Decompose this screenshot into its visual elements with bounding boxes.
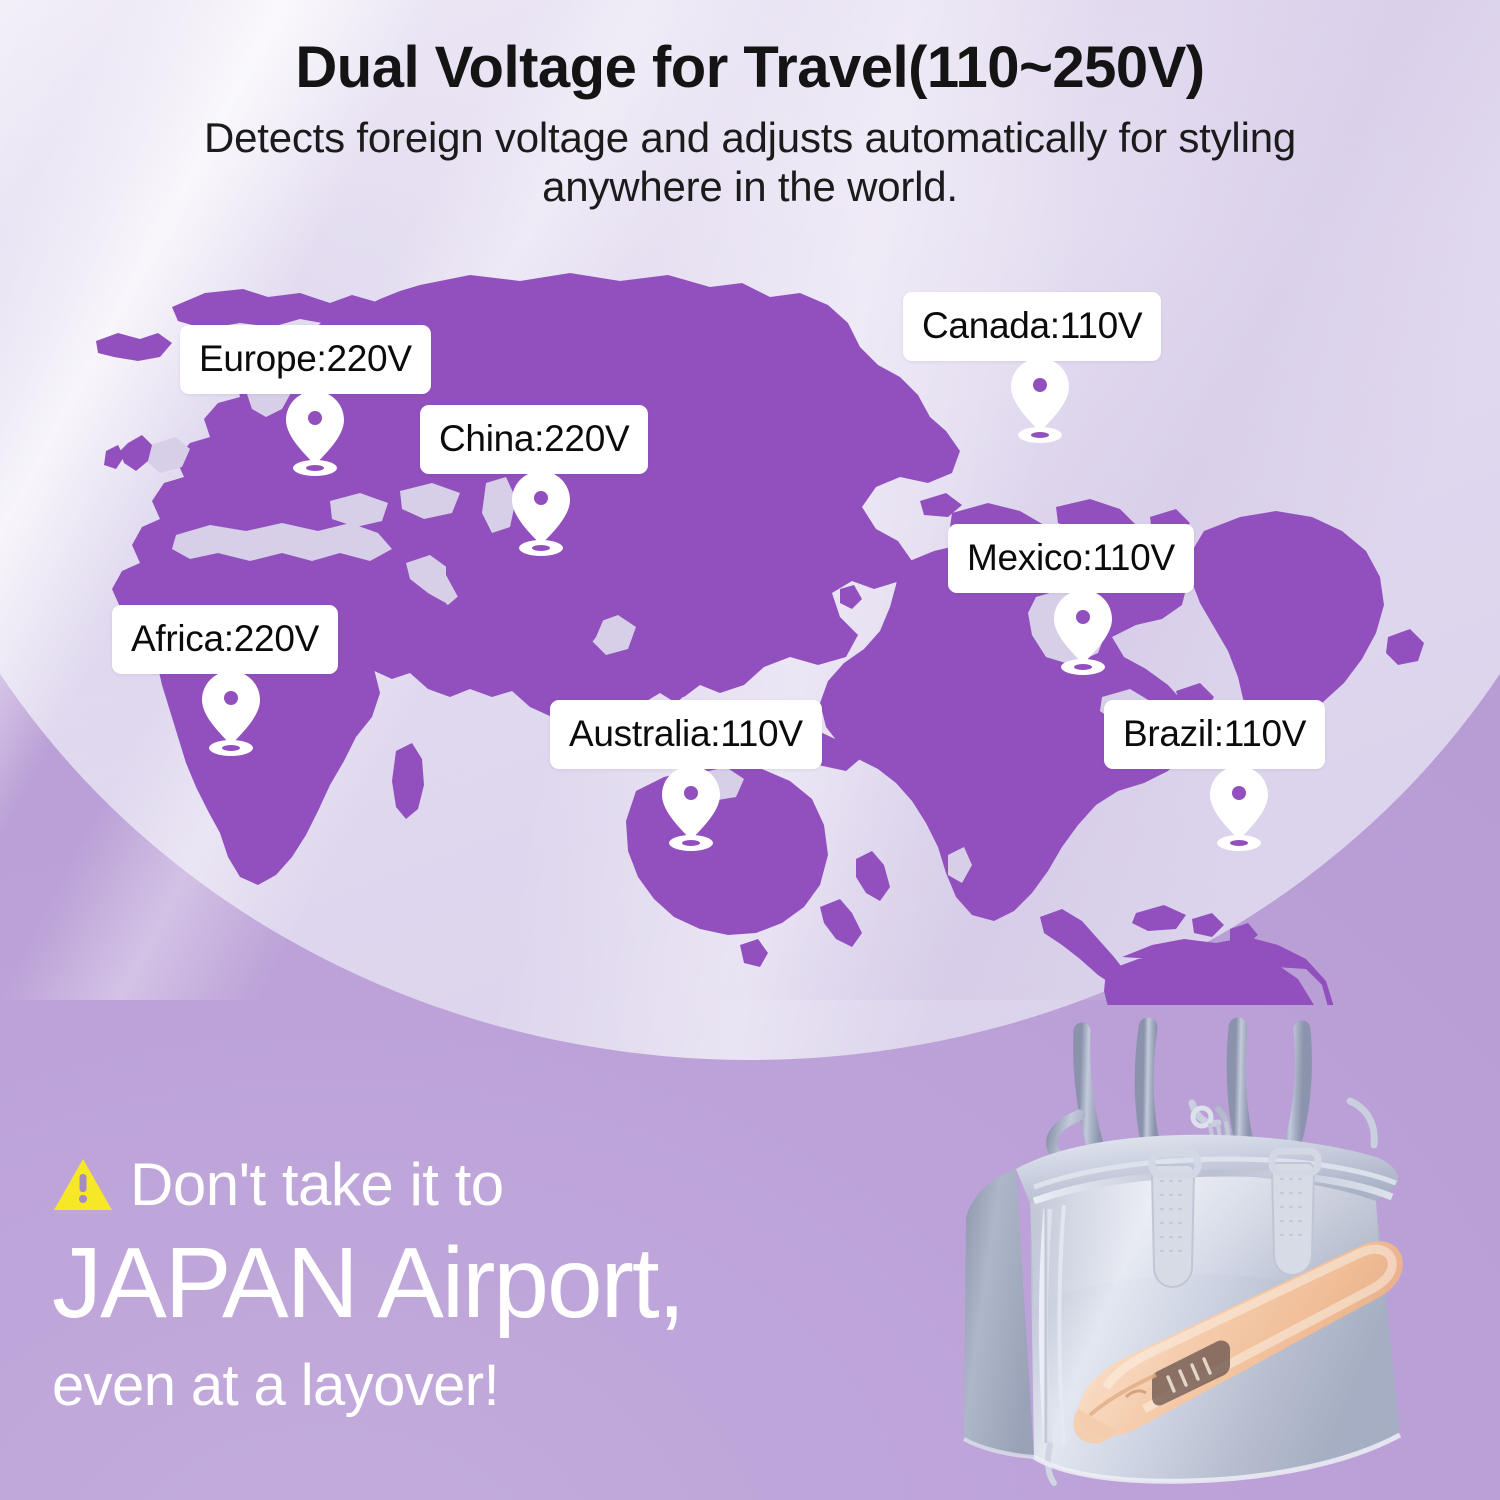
page-subtitle-line-2: anywhere in the world. bbox=[0, 163, 1500, 212]
location-pin-icon[interactable] bbox=[284, 389, 346, 477]
location-pin-icon[interactable] bbox=[1009, 356, 1071, 444]
map-marker-label-africa[interactable]: Africa:220V bbox=[112, 605, 338, 674]
map-marker-label-china[interactable]: China:220V bbox=[420, 405, 648, 474]
page-subtitle-line-1: Detects foreign voltage and adjusts auto… bbox=[0, 114, 1500, 163]
location-pin-icon[interactable] bbox=[200, 669, 262, 757]
map-marker-label-europe[interactable]: Europe:220V bbox=[180, 325, 431, 394]
warning-line-3: even at a layover! bbox=[52, 1357, 912, 1415]
page-subtitle: Detects foreign voltage and adjusts auto… bbox=[0, 114, 1500, 211]
warning-block: Don't take it to JAPAN Airport, even at … bbox=[52, 1155, 912, 1415]
warning-line-1-text: Don't take it to bbox=[130, 1155, 504, 1215]
warning-line-1: Don't take it to bbox=[52, 1155, 912, 1215]
location-pin-icon[interactable] bbox=[1208, 764, 1270, 852]
infographic-canvas: Dual Voltage for Travel(110~250V) Detect… bbox=[0, 0, 1500, 1500]
map-marker-label-australia[interactable]: Australia:110V bbox=[550, 700, 822, 769]
location-pin-icon[interactable] bbox=[510, 469, 572, 557]
warning-triangle-icon bbox=[52, 1157, 114, 1213]
map-marker-label-brazil[interactable]: Brazil:110V bbox=[1104, 700, 1325, 769]
header: Dual Voltage for Travel(110~250V) Detect… bbox=[0, 0, 1500, 211]
warning-line-2: JAPAN Airport, bbox=[52, 1233, 912, 1333]
location-pin-icon[interactable] bbox=[1052, 588, 1114, 676]
map-marker-label-canada[interactable]: Canada:110V bbox=[903, 292, 1161, 361]
map-marker-label-mexico[interactable]: Mexico:110V bbox=[948, 524, 1194, 593]
handbag-with-straightener-image bbox=[930, 1005, 1500, 1500]
page-title: Dual Voltage for Travel(110~250V) bbox=[0, 36, 1500, 100]
location-pin-icon[interactable] bbox=[660, 764, 722, 852]
